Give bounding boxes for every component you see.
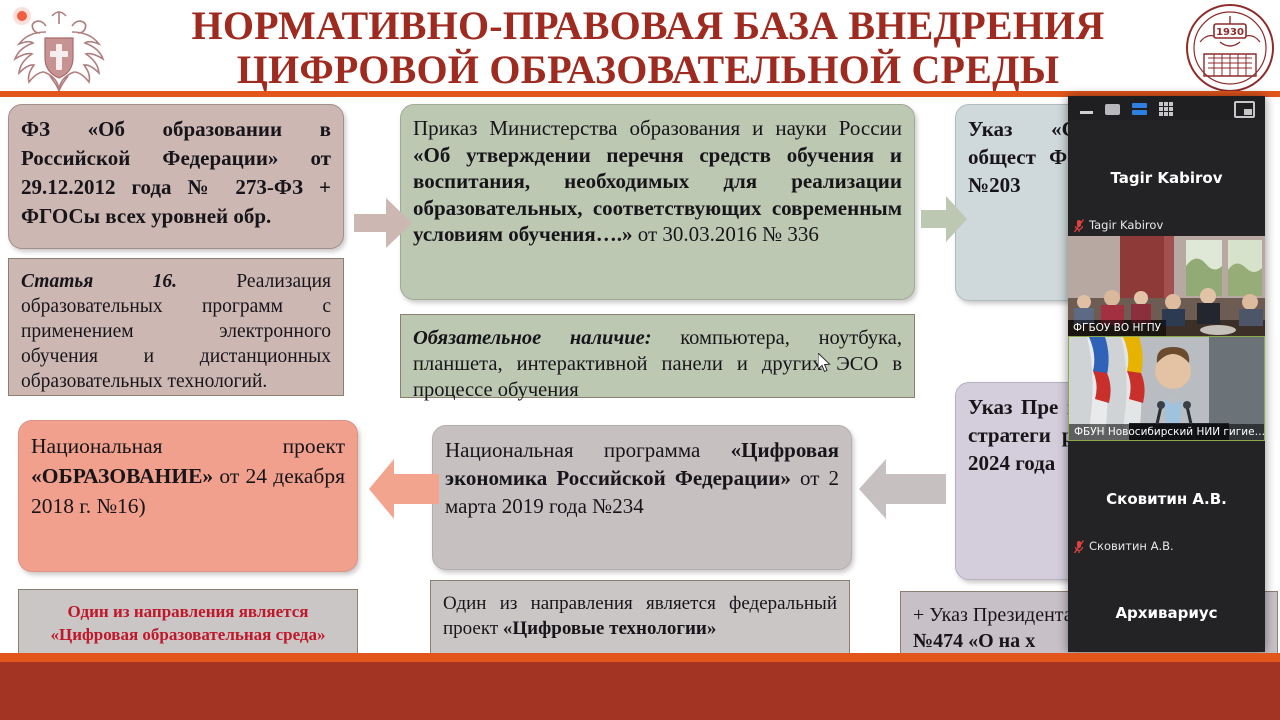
- arrow-left-gray-icon: [858, 447, 948, 531]
- picture-in-picture-icon[interactable]: [1234, 101, 1255, 118]
- microphone-muted-icon: [1074, 539, 1084, 553]
- decree-474-prefix: + Указ Президент: [913, 604, 1064, 626]
- footer-bar: [0, 662, 1280, 720]
- arrow-right-pink-icon: [352, 192, 414, 254]
- grid-view-icon[interactable]: [1159, 102, 1173, 116]
- microphone-muted-icon: [1074, 218, 1084, 232]
- direction-dos-text: Один из направления является «Цифровая о…: [50, 602, 325, 644]
- arrow-left-salmon-icon: [368, 447, 440, 531]
- minimize-icon[interactable]: [1080, 111, 1093, 114]
- direction-mid-title: «Цифровые технологии»: [503, 618, 717, 639]
- national-project-education-box: Национальная проект «ОБРАЗОВАНИЕ» от 24 …: [18, 420, 358, 572]
- conference-toolbar: [1068, 96, 1265, 120]
- ministry-order-suffix: от 30.03.2016 № 336: [632, 222, 818, 246]
- video-tile-caption: ФБУН Новосибирский НИИ гигиены…: [1069, 424, 1265, 440]
- participant-tile[interactable]: Tagir Kabirov Tagir Kabirov: [1068, 120, 1265, 236]
- obligatory-equipment-box: Обязательное наличие: компьютера, ноутбу…: [400, 314, 915, 398]
- single-view-icon[interactable]: [1105, 104, 1120, 115]
- participant-footer-label: Архивариус: [1089, 651, 1160, 652]
- nacproject-title: «ОБРАЗОВАНИЕ»: [31, 464, 213, 488]
- participant-tile[interactable]: Архивариус Архивариус: [1068, 557, 1265, 652]
- title-line-1: НОРМАТИВНО-ПРАВОВАЯ БАЗА ВНЕДРЕНИЯ: [192, 3, 1105, 48]
- tile-footer: Архивариус: [1068, 647, 1166, 652]
- page-title: НОРМАТИВНО-ПРАВОВАЯ БАЗА ВНЕДРЕНИЯ ЦИФРО…: [118, 4, 1178, 92]
- tile-footer: Сковитин А.В.: [1068, 535, 1180, 557]
- direction-digital-tech-box: Один из направления является федеральный…: [430, 580, 850, 658]
- russian-coat-of-arms-icon: [6, 2, 112, 94]
- participant-footer-label: Сковитин А.В.: [1089, 539, 1174, 553]
- video-tile-caption: ФГБОУ ВО НГПУ: [1068, 320, 1166, 336]
- nacproject-prefix: Национальная проект: [31, 434, 345, 458]
- digital-economy-program-box: Национальная программа «Цифровая экономи…: [432, 425, 852, 570]
- arrow-right-green-icon: [920, 190, 968, 248]
- participant-tile-active-speaker[interactable]: ФБУН Новосибирский НИИ гигиены…: [1068, 336, 1265, 441]
- presentation-slide: НОРМАТИВНО-ПРАВОВАЯ БАЗА ВНЕДРЕНИЯ ЦИФРО…: [0, 0, 1280, 720]
- split-view-icon[interactable]: [1132, 103, 1147, 115]
- tile-footer: Tagir Kabirov: [1068, 214, 1169, 236]
- footer-accent-bar: [0, 653, 1280, 662]
- participant-tile[interactable]: Сковитин А.В. Сковитин А.В.: [1068, 441, 1265, 557]
- svg-text:1930: 1930: [1216, 27, 1244, 38]
- decree-474-number: №474 «О на: [913, 630, 1020, 652]
- mouse-cursor: [818, 353, 832, 373]
- obligatory-lead: Обязательное наличие:: [413, 327, 652, 349]
- article-16-box: Статья 16. Реализация образовательных пр…: [8, 258, 344, 396]
- microphone-muted-icon: [1074, 651, 1084, 652]
- decree-474-tail: х: [1025, 630, 1035, 652]
- ministry-order-box: Приказ Министерства образования и науки …: [400, 104, 915, 300]
- ministry-order-prefix: Приказ Министерства образования и науки …: [413, 116, 902, 140]
- participant-tile[interactable]: ФГБОУ ВО НГПУ: [1068, 236, 1265, 336]
- participant-display-name: Сковитин А.В.: [1068, 490, 1265, 508]
- institute-seal-1930-icon: 1930: [1184, 2, 1276, 94]
- participant-display-name: Архивариус: [1068, 604, 1265, 622]
- article-16-lead: Статья 16.: [21, 271, 177, 292]
- chevron-down-icon[interactable]: [1159, 647, 1175, 652]
- participant-footer-label: Tagir Kabirov: [1089, 218, 1163, 232]
- law-273-box: ФЗ «Об образовании в Российской Федераци…: [8, 104, 344, 249]
- title-line-2: ЦИФРОВОЙ ОБРАЗОВАТЕЛЬНОЙ СРЕДЫ: [118, 48, 1178, 92]
- participant-display-name: Tagir Kabirov: [1068, 169, 1265, 187]
- video-conference-panel[interactable]: Tagir Kabirov Tagir Kabirov: [1068, 96, 1265, 652]
- nacprogram-prefix: Национальная программа: [445, 438, 731, 462]
- law-273-text: ФЗ «Об образовании в Российской Федераци…: [21, 117, 331, 228]
